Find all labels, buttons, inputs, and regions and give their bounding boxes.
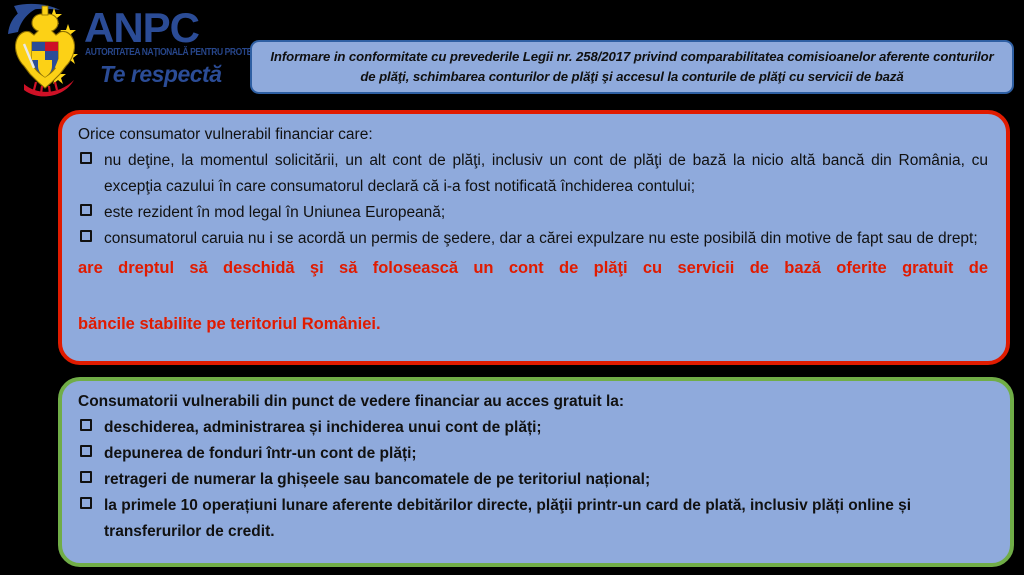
services-list: deschiderea, administrarea și inchiderea… [78, 415, 992, 545]
hollow-square-bullet-icon [80, 230, 92, 242]
list-item-text: deschiderea, administrarea și inchiderea… [104, 419, 542, 436]
hollow-square-bullet-icon [80, 445, 92, 457]
romanian-coat-of-arms-icon [4, 2, 86, 102]
eligibility-conclusion-line-1: are dreptul să deschidă şi să folosească… [78, 254, 988, 310]
list-item: la primele 10 operațiuni lunare aferente… [78, 493, 992, 545]
list-item: deschiderea, administrarea și inchiderea… [78, 415, 992, 441]
list-item-text: este rezident în mod legal în Uniunea Eu… [104, 204, 445, 221]
anpc-wordmark: ANPC AUTORITATEA NAȚIONALĂ PENTRU PROTEC… [82, 6, 244, 102]
list-item: depunerea de fonduri într-un cont de plă… [78, 441, 992, 467]
eligibility-list: nu deţine, la momentul solicitării, un a… [78, 148, 988, 252]
hollow-square-bullet-icon [80, 204, 92, 216]
hollow-square-bullet-icon [80, 152, 92, 164]
anpc-logo: ANPC AUTORITATEA NAȚIONALĂ PENTRU PROTEC… [4, 2, 244, 102]
anpc-tagline: Te respectă [100, 61, 222, 88]
eligibility-box: Orice consumator vulnerabil financiar ca… [58, 110, 1010, 365]
list-item-text: retrageri de numerar la ghișeele sau ban… [104, 471, 650, 488]
eligibility-conclusion: are dreptul să deschidă şi să folosească… [78, 254, 988, 338]
hollow-square-bullet-icon [80, 471, 92, 483]
eligibility-conclusion-line-2: băncile stabilite pe teritoriul României… [78, 310, 988, 338]
services-lead-text: Consumatorii vulnerabili din punct de ve… [78, 389, 992, 415]
hollow-square-bullet-icon [80, 497, 92, 509]
list-item-text: consumatorul caruia nu i se acordă un pe… [104, 230, 978, 247]
eligibility-lead-text: Orice consumator vulnerabil financiar ca… [78, 122, 988, 148]
list-item: consumatorul caruia nu i se acordă un pe… [78, 226, 988, 252]
header-banner: Informare in conformitate cu prevederile… [250, 40, 1014, 94]
list-item: este rezident în mod legal în Uniunea Eu… [78, 200, 988, 226]
list-item-text: depunerea de fonduri într-un cont de plă… [104, 445, 417, 462]
hollow-square-bullet-icon [80, 419, 92, 431]
anpc-acronym: ANPC [84, 8, 199, 48]
services-box: Consumatorii vulnerabili din punct de ve… [58, 377, 1014, 567]
list-item-text: la primele 10 operațiuni lunare aferente… [104, 497, 911, 540]
header-banner-text: Informare in conformitate cu prevederile… [262, 47, 1002, 87]
list-item-text: nu deţine, la momentul solicitării, un a… [104, 152, 988, 195]
list-item: retrageri de numerar la ghișeele sau ban… [78, 467, 992, 493]
list-item: nu deţine, la momentul solicitării, un a… [78, 148, 988, 200]
